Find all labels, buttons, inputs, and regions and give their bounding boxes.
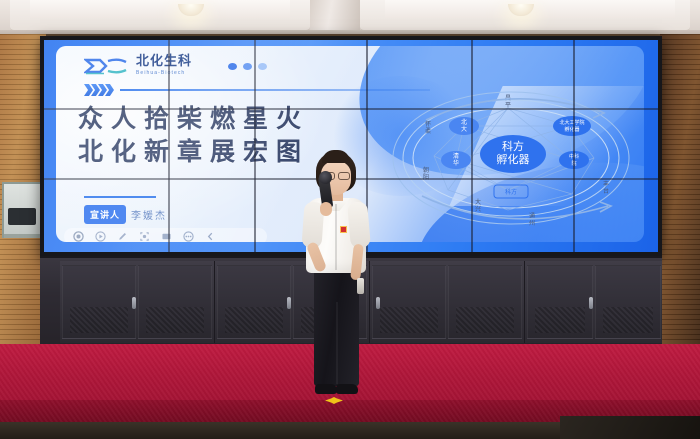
cabinet-handle <box>132 297 136 309</box>
slide-decor-dots <box>228 63 267 70</box>
slide-header-rule <box>120 89 430 91</box>
bezel-seam-vertical <box>254 40 256 252</box>
person-held-device <box>357 278 364 294</box>
svg-text:华: 华 <box>453 159 459 167</box>
cabinet-vent <box>225 307 283 333</box>
svg-text:清: 清 <box>453 152 459 160</box>
cabinet-vent <box>456 307 514 333</box>
cabinet-vent <box>70 307 128 333</box>
svg-text:北: 北 <box>461 118 467 126</box>
svg-text:台: 台 <box>603 187 609 195</box>
ceiling-beam <box>310 0 360 34</box>
cabinet-vent <box>146 307 204 333</box>
decor-dot-1 <box>228 63 237 70</box>
cabinet-vent <box>535 307 585 333</box>
title-line-1: 众人拾柴燃星火 <box>78 102 309 135</box>
svg-text:大: 大 <box>461 125 467 133</box>
svg-text:兴: 兴 <box>475 205 481 213</box>
chevron-icon <box>84 84 93 96</box>
person-shoe-left <box>315 384 337 394</box>
cabinet-handle <box>287 297 291 309</box>
crop-icon[interactable] <box>139 231 150 242</box>
logo-chinese-name: 北化生科 <box>136 55 192 68</box>
screen-icon[interactable] <box>161 231 172 242</box>
svg-text:孵化器: 孵化器 <box>497 152 530 166</box>
person-shoe-right <box>336 384 358 394</box>
cabinet-vent <box>603 307 653 333</box>
person-sleeve-right <box>347 201 371 249</box>
person-shirt-placket <box>335 204 337 270</box>
svg-text:怀: 怀 <box>425 120 431 128</box>
play-icon[interactable] <box>95 231 106 242</box>
glasses-lens-right <box>338 172 350 180</box>
back-icon[interactable] <box>205 231 216 242</box>
cabinet-handle <box>589 297 593 309</box>
svg-text:州: 州 <box>529 220 535 227</box>
slide-chevron-row <box>84 84 430 96</box>
control-room-sill <box>4 234 42 238</box>
beihua-monogram-icon <box>84 56 128 76</box>
pen-icon[interactable] <box>117 231 128 242</box>
presenter-rule <box>84 196 156 198</box>
bezel-seam-vertical <box>168 40 170 252</box>
cabinet-unit <box>370 261 525 343</box>
svg-text:北大工学院: 北大工学院 <box>559 119 584 126</box>
person-hair-top <box>322 150 350 163</box>
title-line-2: 北化新章展宏图 <box>78 135 309 168</box>
party-emblem-badge <box>340 226 347 233</box>
microphone-head <box>319 171 332 184</box>
bezel-seam-vertical <box>573 40 575 252</box>
wood-wall-right <box>660 34 700 364</box>
cabinet-unit <box>60 261 215 343</box>
bezel-seam-vertical <box>471 40 473 252</box>
cabinet-vent <box>380 307 438 333</box>
svg-text:丰: 丰 <box>603 180 609 188</box>
control-room-monitor <box>8 208 36 225</box>
slide-logo: 北化生科 Beihua-Biotech <box>84 55 192 76</box>
logo-english-name: Beihua-Biotech <box>136 70 192 76</box>
svg-text:科方: 科方 <box>505 188 517 196</box>
svg-text:孵化器: 孵化器 <box>564 126 579 133</box>
svg-text:朝: 朝 <box>423 166 429 174</box>
ceiling-coffer-inner-left <box>30 0 290 18</box>
presenter-person <box>295 152 377 404</box>
screenshot-root: 北化生科 Beihua-Biotech 众人拾柴燃星火 北化新章展宏图 <box>0 0 700 439</box>
control-room-window <box>2 182 44 238</box>
person-hand-on-mic <box>320 202 332 216</box>
screen-toolbar[interactable] <box>64 228 267 242</box>
svg-text:大: 大 <box>475 198 481 206</box>
decor-dot-3 <box>258 63 267 70</box>
presenter-name: 李媛杰 <box>131 207 167 222</box>
svg-text:科方: 科方 <box>502 139 524 153</box>
cabinet-unit <box>525 261 662 343</box>
slide-title: 众人拾柴燃星火 北化新章展宏图 <box>78 102 309 168</box>
floor-shadow-right <box>560 416 700 439</box>
svg-text:柔: 柔 <box>425 127 431 135</box>
record-icon[interactable] <box>73 231 84 242</box>
decor-dot-2 <box>243 63 252 70</box>
presenter-badge: 宣讲人 <box>84 205 126 224</box>
presenter-row: 宣讲人 李媛杰 <box>84 205 167 224</box>
person-leg-seam <box>336 302 338 384</box>
more-icon[interactable] <box>183 231 194 242</box>
bezel-seam-horizontal <box>44 108 658 110</box>
